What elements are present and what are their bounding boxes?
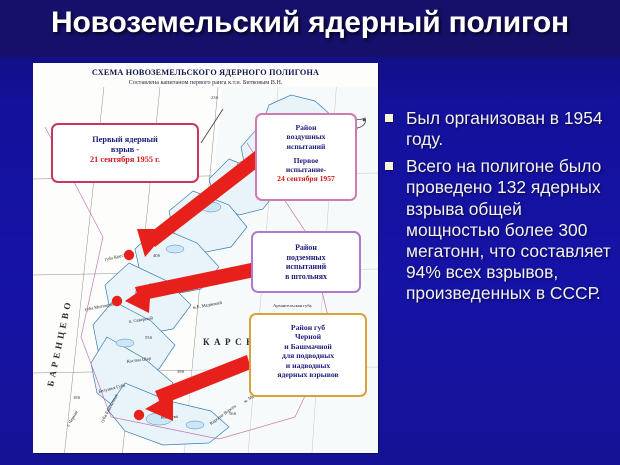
svg-text:39S: 39S: [177, 369, 185, 374]
callout-line: 21 сентября 1955 г.: [56, 155, 194, 165]
callout-line: испытание-: [260, 165, 352, 174]
svg-text:55S: 55S: [145, 335, 153, 340]
page-title: Новоземельский ядерный полигон: [0, 6, 620, 40]
callout-line: и Башмачной: [254, 342, 362, 351]
svg-text:23S: 23S: [211, 95, 219, 100]
svg-text:г. Черная: г. Черная: [66, 409, 80, 428]
callout-line: воздушных: [260, 132, 352, 141]
svg-text:40S: 40S: [153, 253, 161, 258]
bullet-list: Был организован в 1954 году. Всего на по…: [385, 108, 617, 310]
square-bullet-icon: [385, 114, 393, 122]
bullet-stats: Всего на полигоне было проведено 132 яде…: [385, 156, 617, 304]
callout-bays[interactable]: Район губ Черной и Башмачной для подводн…: [249, 313, 367, 397]
bullet-organized: Был организован в 1954 году.: [385, 108, 617, 150]
callout-line: ядерных взрывов: [254, 370, 362, 379]
callout-air-tests[interactable]: Район воздушных испытаний Первое испытан…: [255, 113, 357, 201]
callout-line: Район: [260, 123, 352, 132]
svg-text:56S: 56S: [229, 411, 237, 416]
svg-text:18S: 18S: [73, 395, 81, 400]
barents-sea-label: БАРЕНЦЕВО: [45, 298, 73, 387]
test-site-marker-2: [112, 296, 122, 306]
bullet-text: Всего на полигоне было проведено 132 яде…: [406, 156, 611, 303]
callout-line: испытаний: [256, 262, 356, 272]
callout-line: и надводных: [254, 361, 362, 370]
map-title: СХЕМА НОВОЗЕМЕЛЬСКОГО ЯДЕРНОГО ПОЛИГОНА: [33, 68, 378, 77]
callout-line: для подводных: [254, 351, 362, 360]
svg-text:Архангельская губа: Архангельская губа: [273, 303, 312, 308]
callout-line: взрыв -: [56, 145, 194, 155]
callout-line: испытаний: [260, 142, 352, 151]
map-subtitle: Составлена капитаном первого ранга к.т.н…: [33, 79, 378, 86]
callout-line: Первое: [260, 156, 352, 165]
callout-line: Район губ: [254, 323, 362, 332]
test-site-marker-1: [124, 250, 134, 260]
test-site-marker-3: [134, 410, 144, 420]
callout-line: Первый ядерный: [56, 135, 194, 145]
map-panel[interactable]: СХЕМА НОВОЗЕМЕЛЬСКОГО ЯДЕРНОГО ПОЛИГОНА …: [33, 63, 378, 453]
bullet-text: Был организован в 1954 году.: [406, 108, 603, 149]
callout-line: подземных: [256, 253, 356, 263]
slide-root: Новоземельский ядерный полигон СХЕМА НОВ…: [0, 0, 620, 465]
square-bullet-icon: [385, 162, 393, 170]
callout-line: в штольнях: [256, 272, 356, 282]
callout-line: 24 сентября 1957: [260, 174, 352, 183]
callout-line: Черной: [254, 332, 362, 341]
callout-line: Район: [256, 243, 356, 253]
callout-underground-tests[interactable]: Район подземных испытаний в штольнях: [251, 231, 361, 293]
callout-first-explosion[interactable]: Первый ядерный взрыв - 21 сентября 1955 …: [51, 123, 199, 183]
